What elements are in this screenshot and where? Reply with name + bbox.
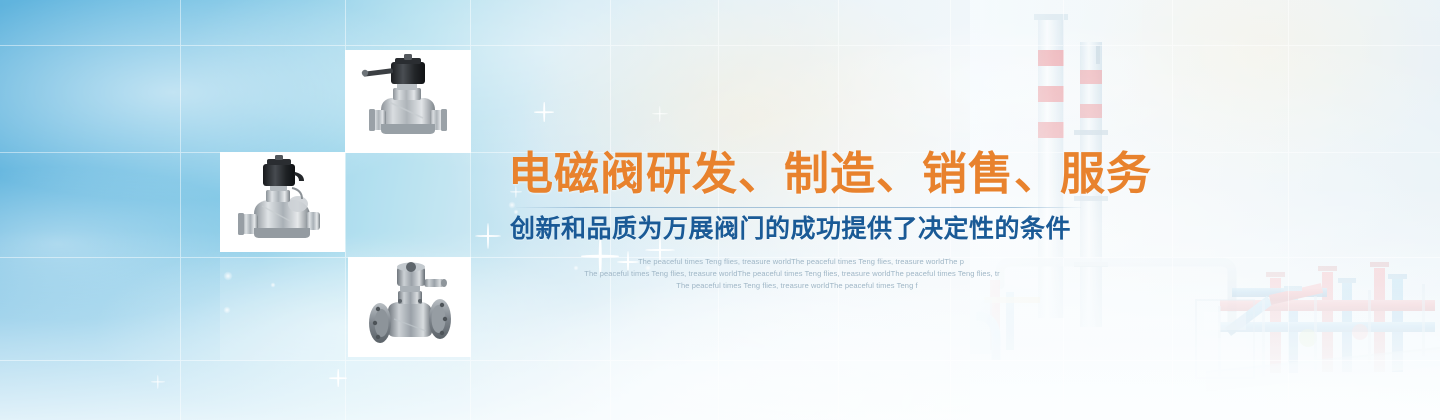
grid-tile-highlight-1: [345, 152, 470, 257]
solenoid-valve-threaded-top-coil-image: [345, 50, 471, 153]
banner-subheadline: 创新和品质为万展阀门的成功提供了决定性的条件: [510, 215, 1108, 244]
grid-tile-highlight-2: [220, 257, 345, 360]
headline-divider: [516, 207, 1081, 208]
product-thumbnail-2[interactable]: [220, 152, 345, 252]
product-thumbnail-1[interactable]: [345, 50, 471, 153]
banner-headline: 电磁阀研发、制造、销售、服务: [508, 150, 1108, 198]
product-thumbnail-3[interactable]: [348, 257, 471, 357]
banner-blurb: The peaceful times Teng flies, treasure …: [532, 256, 1052, 292]
solenoid-valve-flanged-image: [348, 257, 471, 357]
blurb-line-2: The peaceful times Teng flies, treasure …: [532, 268, 1052, 280]
banner-text-block: 电磁阀研发、制造、销售、服务 创新和品质为万展阀门的成功提供了决定性的条件 Th…: [508, 150, 1108, 292]
hero-banner: 电磁阀研发、制造、销售、服务 创新和品质为万展阀门的成功提供了决定性的条件 Th…: [0, 0, 1440, 420]
solenoid-valve-angled-body-image: [220, 152, 345, 252]
blurb-line-3: The peaceful times Teng flies, treasure …: [532, 280, 1052, 292]
blurb-line-1: The peaceful times Teng flies, treasure …: [532, 256, 1052, 268]
